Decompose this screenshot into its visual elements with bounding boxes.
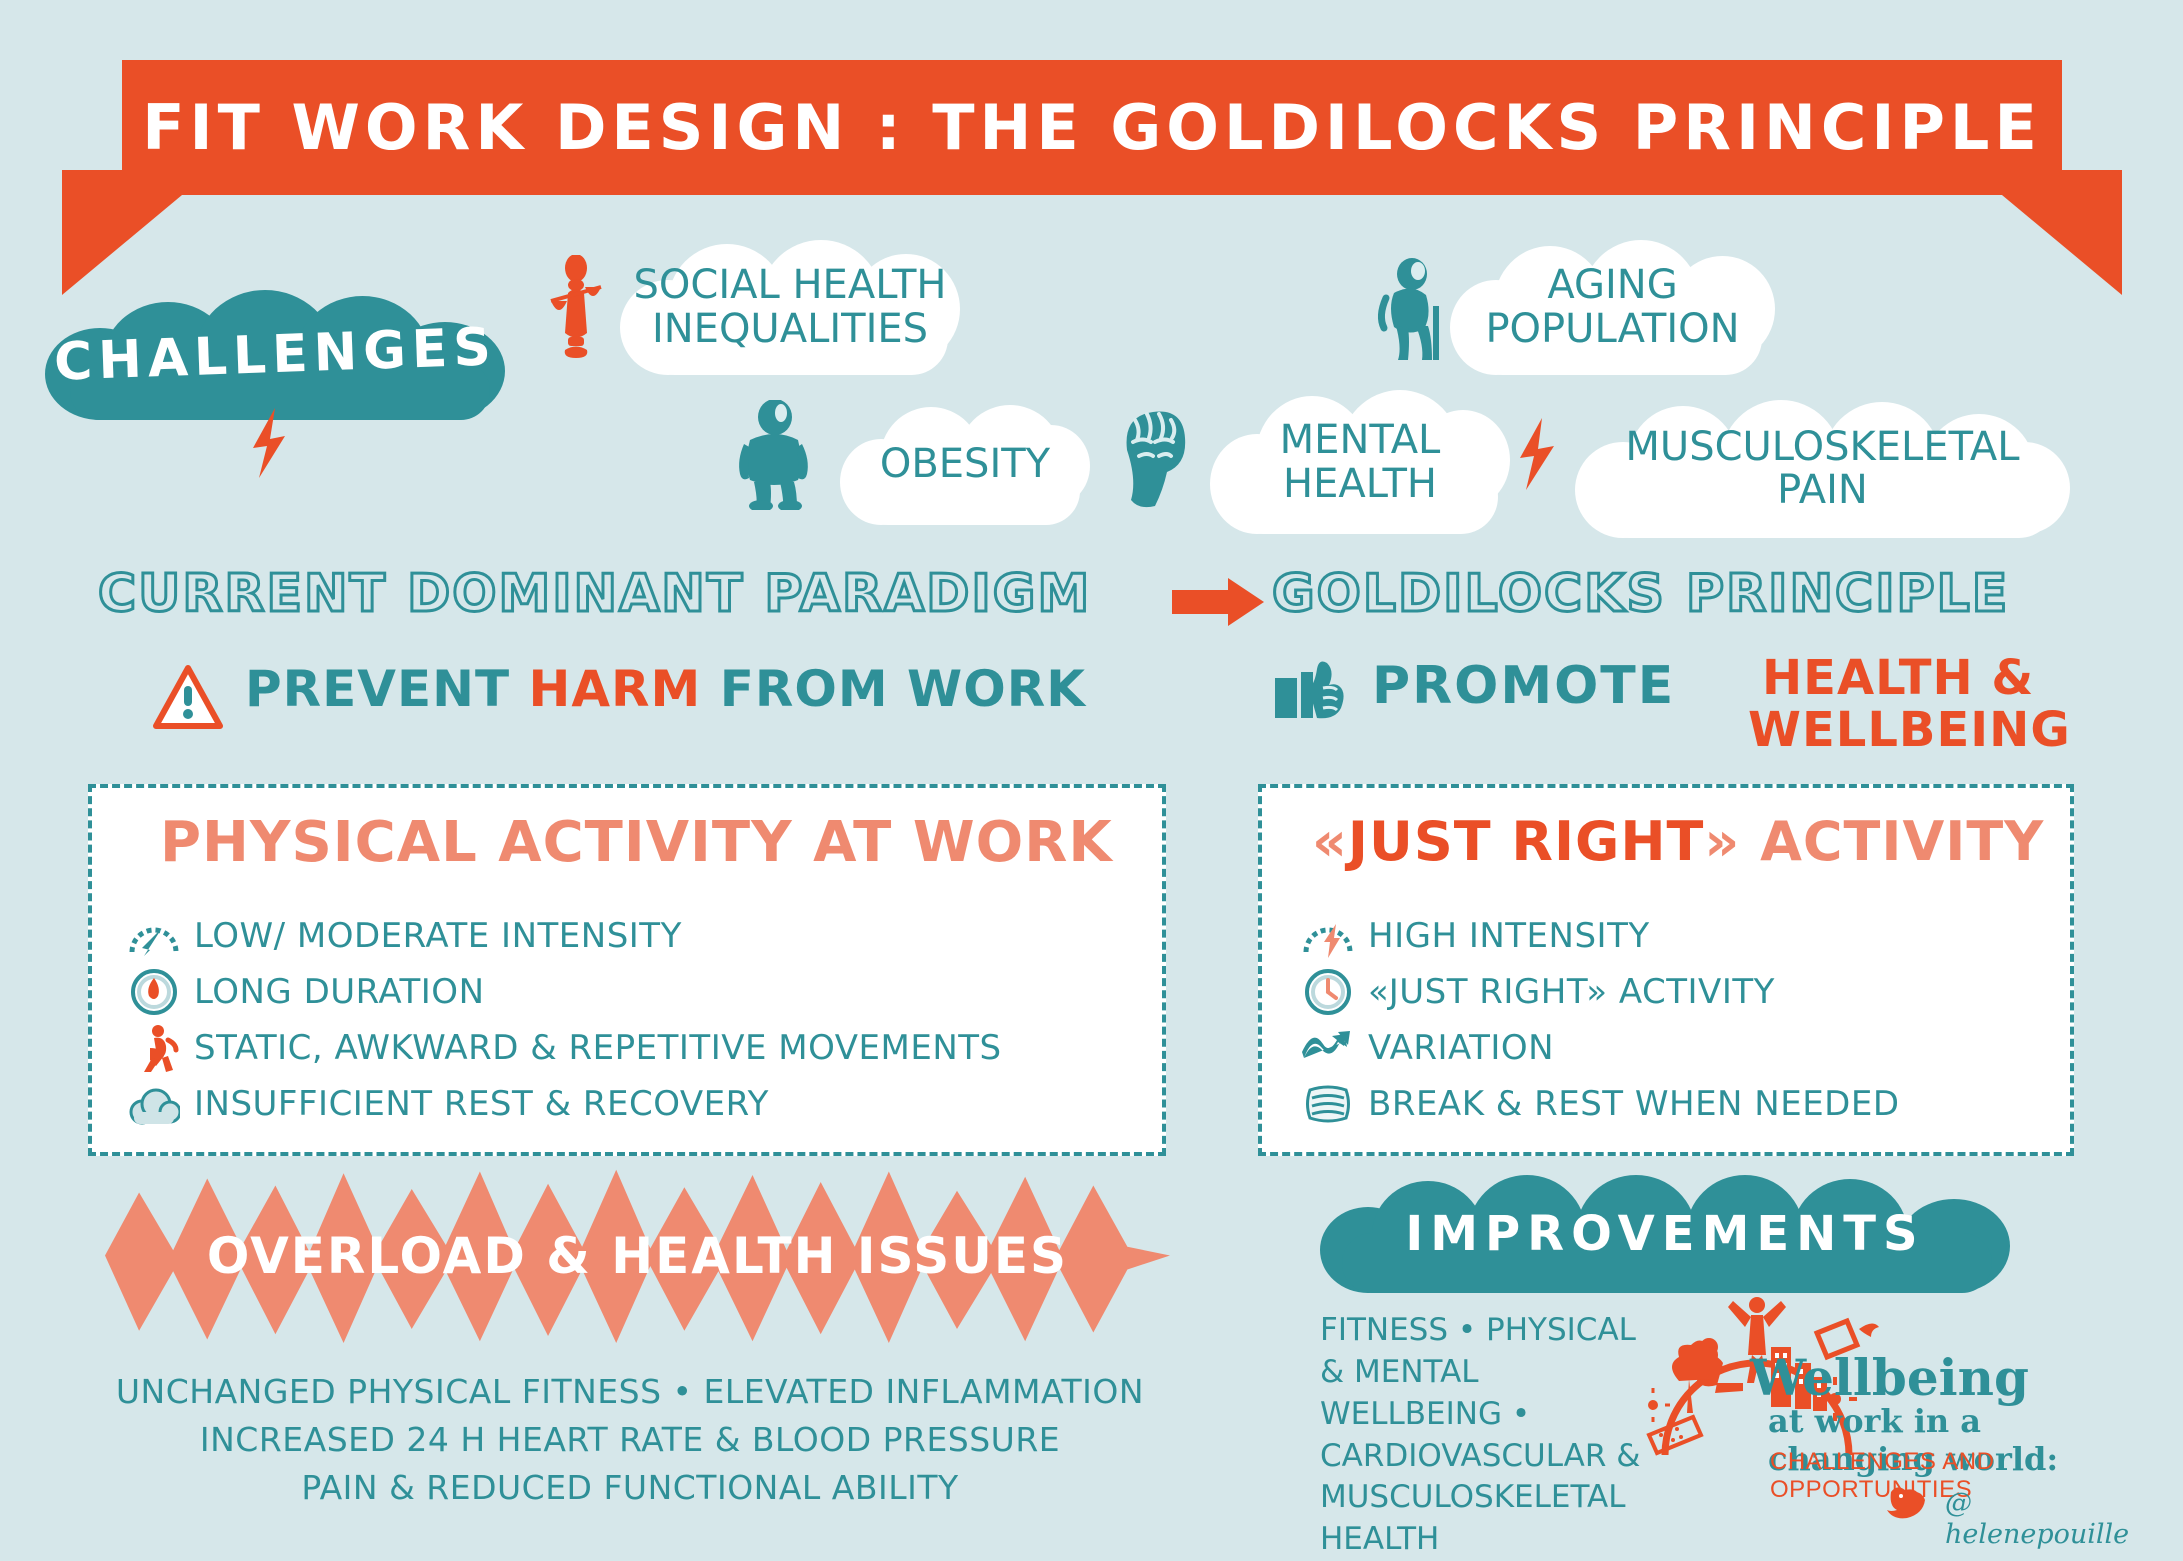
bullet-variation: VARIATION xyxy=(1302,1024,1554,1072)
wellbeing-logo: Wellbeing at work in a changing world: C… xyxy=(1690,1290,2130,1540)
just-right-activity-panel-title: «JUST RIGHT» ACTIVITY xyxy=(1312,810,2044,873)
physical-activity-panel-title-text: PHYSICAL ACTIVITY AT WORK xyxy=(160,810,1113,875)
outcome-line-1: UNCHANGED PHYSICAL FITNESS • ELEVATED IN… xyxy=(80,1372,1180,1411)
challenge-item-obesity: OBESITY xyxy=(840,405,1090,525)
bullet-text: «JUST RIGHT» ACTIVITY xyxy=(1368,972,1775,1012)
scales-of-justice-icon xyxy=(545,255,607,365)
prevent-harm-statement: PREVENT HARM FROM WORK xyxy=(245,660,1086,718)
challenges-cloud: CHALLENGES xyxy=(45,290,505,420)
improvements-description: FITNESS • PHYSICAL & MENTAL WELLBEING • … xyxy=(1320,1310,1650,1561)
bullet-insufficient-rest: INSUFFICIENT REST & RECOVERY xyxy=(128,1080,769,1128)
challenge-label-line2: PAIN xyxy=(1777,469,1868,512)
gauge-low-icon xyxy=(128,912,180,960)
harm-label: HARM xyxy=(529,660,702,718)
logo-wellbeing-text: Wellbeing xyxy=(1750,1348,2029,1407)
bullet-text: BREAK & REST WHEN NEEDED xyxy=(1368,1084,1900,1124)
outcome-line-2: INCREASED 24 H HEART RATE & BLOOD PRESSU… xyxy=(80,1420,1180,1459)
challenge-label-line1: SOCIAL HEALTH xyxy=(634,264,947,307)
bullet-text: LONG DURATION xyxy=(194,972,485,1012)
bullet-text: LOW/ MODERATE INTENSITY xyxy=(194,916,682,956)
challenge-item-musculoskeletal-pain: MUSCULOSKELETAL PAIN xyxy=(1575,400,2070,538)
page-title: FIT WORK DESIGN : THE GOLDILOCKS PRINCIP… xyxy=(122,60,2062,195)
pillow-icon xyxy=(1302,1080,1354,1128)
title-banner: FIT WORK DESIGN : THE GOLDILOCKS PRINCIP… xyxy=(62,60,2122,195)
improvements-cloud-label: IMPROVEMENTS xyxy=(1320,1175,2010,1293)
challenge-item-social-health-inequalities: SOCIAL HEALTH INEQUALITIES xyxy=(620,240,960,375)
overload-health-issues-badge: OVERLOAD & HEALTH ISSUES xyxy=(105,1168,1170,1343)
overweight-person-icon xyxy=(730,400,816,510)
bullet-text: VARIATION xyxy=(1368,1028,1554,1068)
lightning-bolt-icon xyxy=(1512,418,1564,490)
bullet-text: STATIC, AWKWARD & REPETITIVE MOVEMENTS xyxy=(194,1028,1002,1068)
quote-close: » xyxy=(1704,810,1740,873)
bullet-low-moderate-intensity: LOW/ MODERATE INTENSITY xyxy=(128,912,682,960)
challenge-label-line2: INEQUALITIES xyxy=(652,308,928,351)
warning-triangle-icon xyxy=(152,664,224,732)
infographic-canvas: FIT WORK DESIGN : THE GOLDILOCKS PRINCIP… xyxy=(0,0,2183,1543)
bullet-high-intensity: HIGH INTENSITY xyxy=(1302,912,1650,960)
outcome-line-3: PAIN & REDUCED FUNCTIONAL ABILITY xyxy=(80,1468,1180,1507)
challenge-label-line2: HEALTH xyxy=(1283,463,1437,506)
bullet-long-duration: LONG DURATION xyxy=(128,968,485,1016)
right-arrow-icon xyxy=(1172,578,1264,626)
thumbs-up-icon xyxy=(1275,660,1351,722)
challenge-item-mental-health: MENTAL HEALTH xyxy=(1210,390,1510,535)
goldilocks-principle-heading: GOLDILOCKS PRINCIPLE xyxy=(1272,564,2009,624)
just-right-label: JUST RIGHT xyxy=(1348,810,1705,873)
prevent-label: PREVENT xyxy=(245,660,529,718)
bullet-just-right-activity: «JUST RIGHT» ACTIVITY xyxy=(1302,968,1775,1016)
promote-label: PROMOTE xyxy=(1372,656,1675,716)
logo-twitter-handle: @ helenepouille xyxy=(1945,1488,2130,1550)
bullet-text: INSUFFICIENT REST & RECOVERY xyxy=(194,1084,769,1124)
improvements-cloud: IMPROVEMENTS xyxy=(1320,1175,2010,1293)
current-paradigm-heading: CURRENT DOMINANT PARADIGM xyxy=(98,564,1091,624)
elderly-person-with-cane-icon xyxy=(1372,258,1444,363)
twitter-bird-icon xyxy=(1885,1486,1931,1520)
wellbeing-label: WELLBEING xyxy=(1748,702,2071,758)
bullet-break-and-rest: BREAK & REST WHEN NEEDED xyxy=(1302,1080,1900,1128)
quote-open: « xyxy=(1312,810,1348,873)
from-work-label: FROM WORK xyxy=(701,660,1086,718)
rest-cloud-icon xyxy=(128,1080,180,1128)
curved-arrow-icon xyxy=(1302,1024,1354,1072)
challenge-item-aging-population: AGING POPULATION xyxy=(1450,240,1775,375)
challenge-label-line1: AGING xyxy=(1547,264,1677,307)
challenges-cloud-label: CHALLENGES xyxy=(45,290,505,420)
physical-activity-panel-title: PHYSICAL ACTIVITY AT WORK xyxy=(160,810,1113,875)
brain-head-icon xyxy=(1105,400,1191,510)
challenge-label-line2: POPULATION xyxy=(1485,308,1739,351)
running-person-icon xyxy=(128,1024,180,1072)
gauge-high-icon xyxy=(1302,912,1354,960)
clock-just-right-icon xyxy=(1302,968,1354,1016)
bullet-static-awkward-repetitive: STATIC, AWKWARD & REPETITIVE MOVEMENTS xyxy=(128,1024,1002,1072)
challenge-label-line1: MENTAL xyxy=(1280,419,1441,462)
health-and-label: HEALTH & xyxy=(1762,650,2034,706)
bullet-text: HIGH INTENSITY xyxy=(1368,916,1650,956)
challenge-label-line1: OBESITY xyxy=(880,443,1050,486)
clock-long-duration-icon xyxy=(128,968,180,1016)
challenge-label-line1: MUSCULOSKELETAL xyxy=(1625,426,2019,469)
activity-label: ACTIVITY xyxy=(1760,810,2044,873)
